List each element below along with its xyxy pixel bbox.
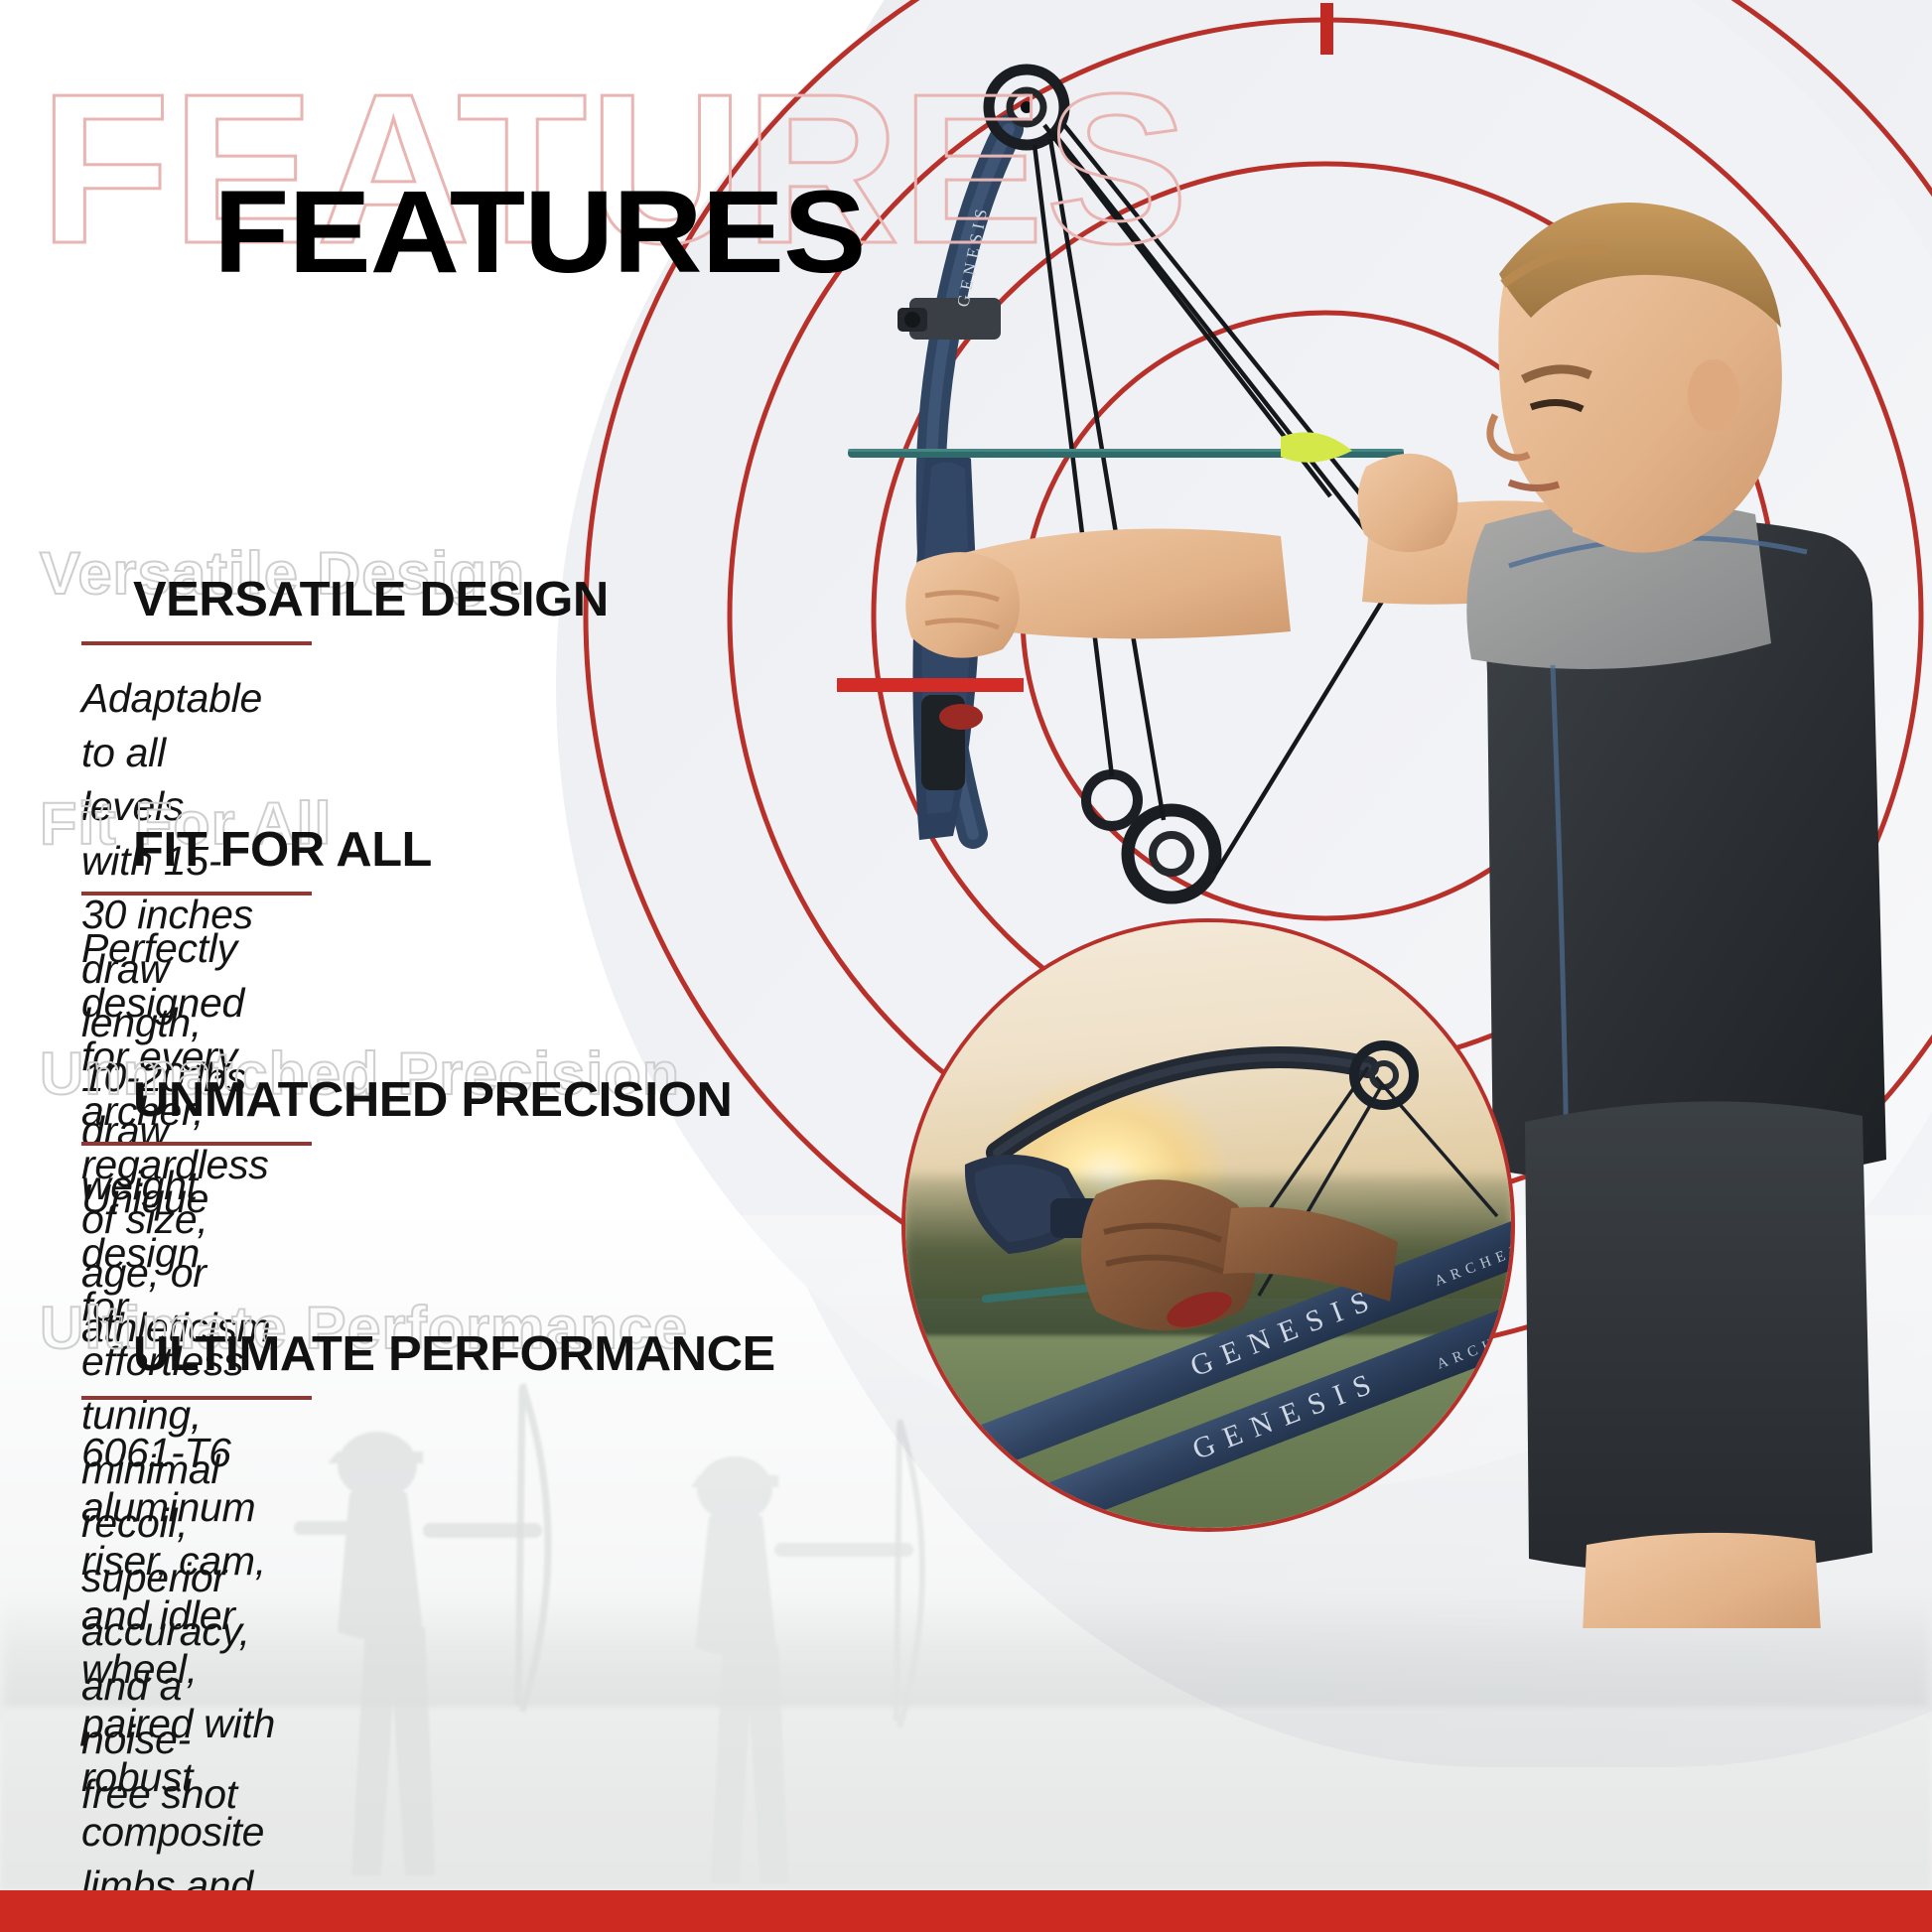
inset-photo-content: GENESIS ARCHERY GENESIS ARCHERY: [901, 918, 1515, 1532]
feature-rule: [81, 641, 312, 645]
feature-body: 6061-T6 aluminum riser, cam, and idler w…: [81, 1426, 280, 1932]
inset-bow-illustration: GENESIS ARCHERY GENESIS ARCHERY: [901, 918, 1515, 1532]
page-title: FEATURES: [213, 174, 865, 291]
poster-canvas: GENESIS: [0, 0, 1932, 1932]
red-accent-tick-horizontal: [837, 678, 1024, 692]
feature-heading: VERSATILE DESIGN: [133, 576, 609, 624]
inset-product-photo: GENESIS ARCHERY GENESIS ARCHERY: [901, 918, 1515, 1532]
red-accent-tick-vertical: [1320, 3, 1333, 55]
feature-rule: [81, 1142, 312, 1146]
feature-rule: [81, 1396, 312, 1400]
feature-rule: [81, 892, 312, 896]
feature-heading: UNMATCHED PRECISION: [133, 1076, 732, 1125]
footer-red-band: [0, 1890, 1932, 1932]
feature-heading: ULTIMATE PERFORMANCE: [133, 1330, 775, 1379]
feature-heading: FIT FOR ALL: [133, 826, 432, 875]
